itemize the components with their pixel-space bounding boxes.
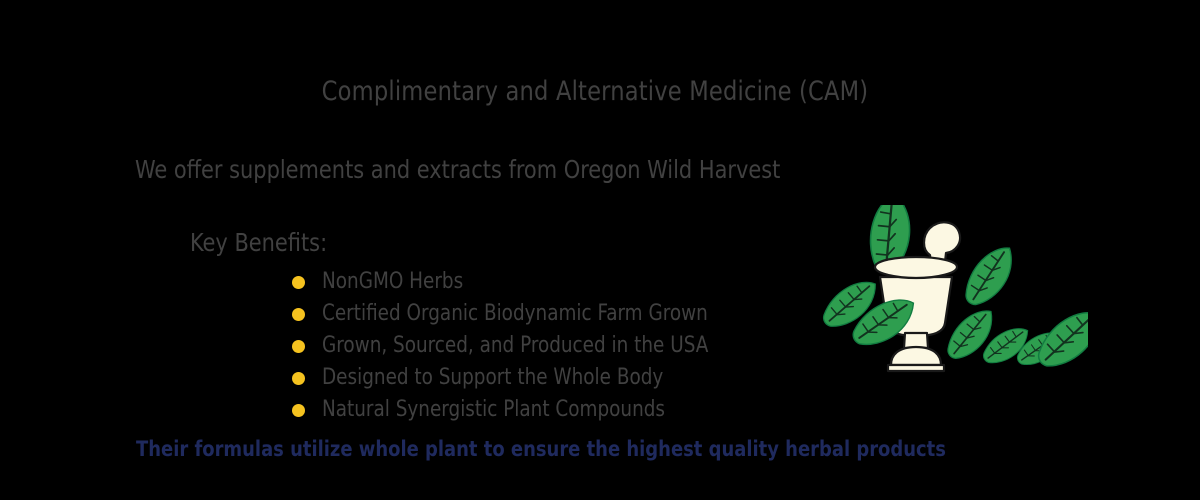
list-item: Designed to Support the Whole Body [290,362,737,394]
bullet-icon [292,404,305,417]
bullet-icon [292,372,305,385]
bullet-icon [292,276,305,289]
slide-canvas: Complimentary and Alternative Medicine (… [0,0,1200,500]
list-item-label: NonGMO Herbs [322,266,463,298]
bullet-icon [292,308,305,321]
list-item: Certified Organic Biodynamic Farm Grown [290,298,737,330]
key-benefits-heading: Key Benefits: [190,228,327,257]
page-title: Complimentary and Alternative Medicine (… [42,76,1149,107]
footer-statement: Their formulas utilize whole plant to en… [136,437,946,461]
leaf-icon [953,242,1027,309]
list-item-label: Certified Organic Biodynamic Farm Grown [322,298,708,330]
list-item-label: Designed to Support the Whole Body [322,362,663,394]
subtitle-text: We offer supplements and extracts from O… [135,155,780,184]
key-benefits-list: NonGMO Herbs Certified Organic Biodynami… [290,266,737,426]
list-item: Grown, Sourced, and Produced in the USA [290,330,737,362]
mortar-and-pestle-illustration [818,205,1088,380]
list-item-label: Natural Synergistic Plant Compounds [322,394,665,426]
bullet-icon [292,340,305,353]
list-item-label: Grown, Sourced, and Produced in the USA [322,330,708,362]
list-item: Natural Synergistic Plant Compounds [290,394,737,426]
list-item: NonGMO Herbs [290,266,737,298]
